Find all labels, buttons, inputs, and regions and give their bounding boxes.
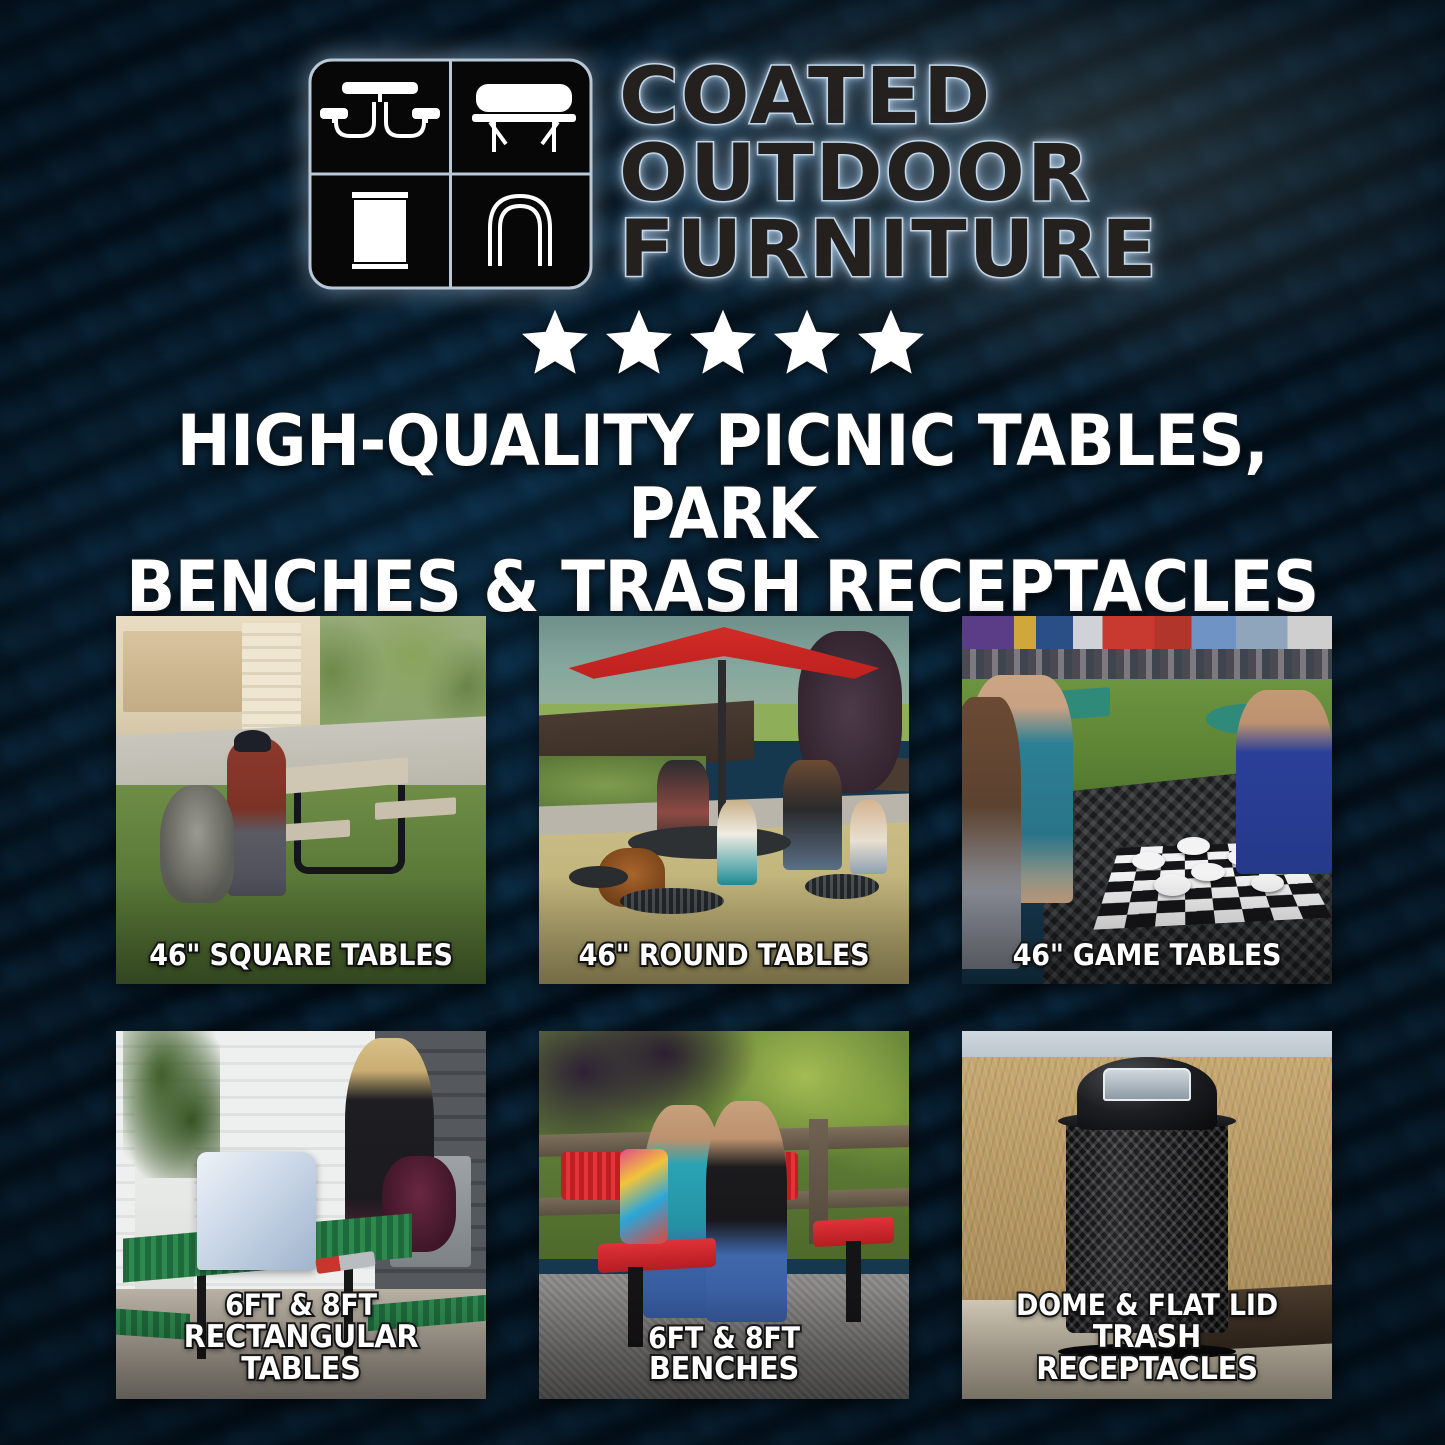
- brand-logo: COATED OUTDOOR FURNITURE: [0, 0, 1445, 290]
- logo-wordmark: COATED OUTDOOR FURNITURE: [619, 60, 1138, 289]
- tile-caption: 6FT & 8FT RECTANGULAR TABLES: [129, 1290, 473, 1385]
- page-title: HIGH-QUALITY PICNIC TABLES, PARK BENCHES…: [58, 405, 1387, 623]
- tile-caption-line-2: RECTANGULAR TABLES: [136, 1321, 465, 1385]
- star-icon: [602, 306, 676, 378]
- logo-line-1: COATED: [619, 60, 992, 135]
- product-category-grid: 46" SQUARE TABLES: [116, 616, 1332, 1399]
- star-icon: [686, 306, 760, 378]
- tile-caption-line-2: BENCHES: [559, 1353, 888, 1385]
- tile-caption: 46" SQUARE TABLES: [129, 940, 473, 970]
- tile-caption-line-1: 6FT & 8FT: [648, 1321, 800, 1355]
- tile-caption-line-1: 46" GAME TABLES: [1013, 938, 1282, 972]
- logo-icon-grid: [308, 58, 593, 290]
- tile-caption: 46" ROUND TABLES: [552, 940, 896, 970]
- product-tile-game-tables[interactable]: 46" GAME TABLES: [962, 616, 1332, 984]
- star-rating: [0, 306, 1445, 383]
- headline-line-1: HIGH-QUALITY PICNIC TABLES, PARK: [113, 405, 1332, 551]
- logo-line-2: OUTDOOR: [619, 137, 1091, 212]
- product-tile-round-tables[interactable]: 46" ROUND TABLES: [539, 616, 909, 984]
- star-icon: [770, 306, 844, 378]
- logo-line-3: FURNITURE: [619, 213, 1159, 288]
- tile-caption: 6FT & 8FT BENCHES: [552, 1323, 896, 1385]
- product-tile-benches[interactable]: 6FT & 8FT BENCHES: [539, 1031, 909, 1399]
- tile-caption-line-2: TRASH RECEPTACLES: [982, 1321, 1311, 1385]
- product-tile-rectangular-tables[interactable]: 6FT & 8FT RECTANGULAR TABLES: [116, 1031, 486, 1399]
- tile-caption-line-1: 46" SQUARE TABLES: [149, 938, 452, 972]
- trash-receptacle-icon: [352, 192, 408, 269]
- tile-caption-line-1: 6FT & 8FT: [225, 1288, 377, 1322]
- product-tile-trash-receptacles[interactable]: DOME & FLAT LID TRASH RECEPTACLES: [962, 1031, 1332, 1399]
- tile-caption: DOME & FLAT LID TRASH RECEPTACLES: [975, 1290, 1319, 1385]
- tile-caption-line-1: DOME & FLAT LID: [1016, 1288, 1278, 1322]
- tile-caption-line-1: 46" ROUND TABLES: [579, 938, 870, 972]
- star-icon: [518, 306, 592, 378]
- product-tile-square-tables[interactable]: 46" SQUARE TABLES: [116, 616, 486, 984]
- headline-line-2: BENCHES & TRASH RECEPTACLES: [113, 551, 1332, 624]
- tile-caption: 46" GAME TABLES: [975, 940, 1319, 970]
- star-icon: [854, 306, 928, 378]
